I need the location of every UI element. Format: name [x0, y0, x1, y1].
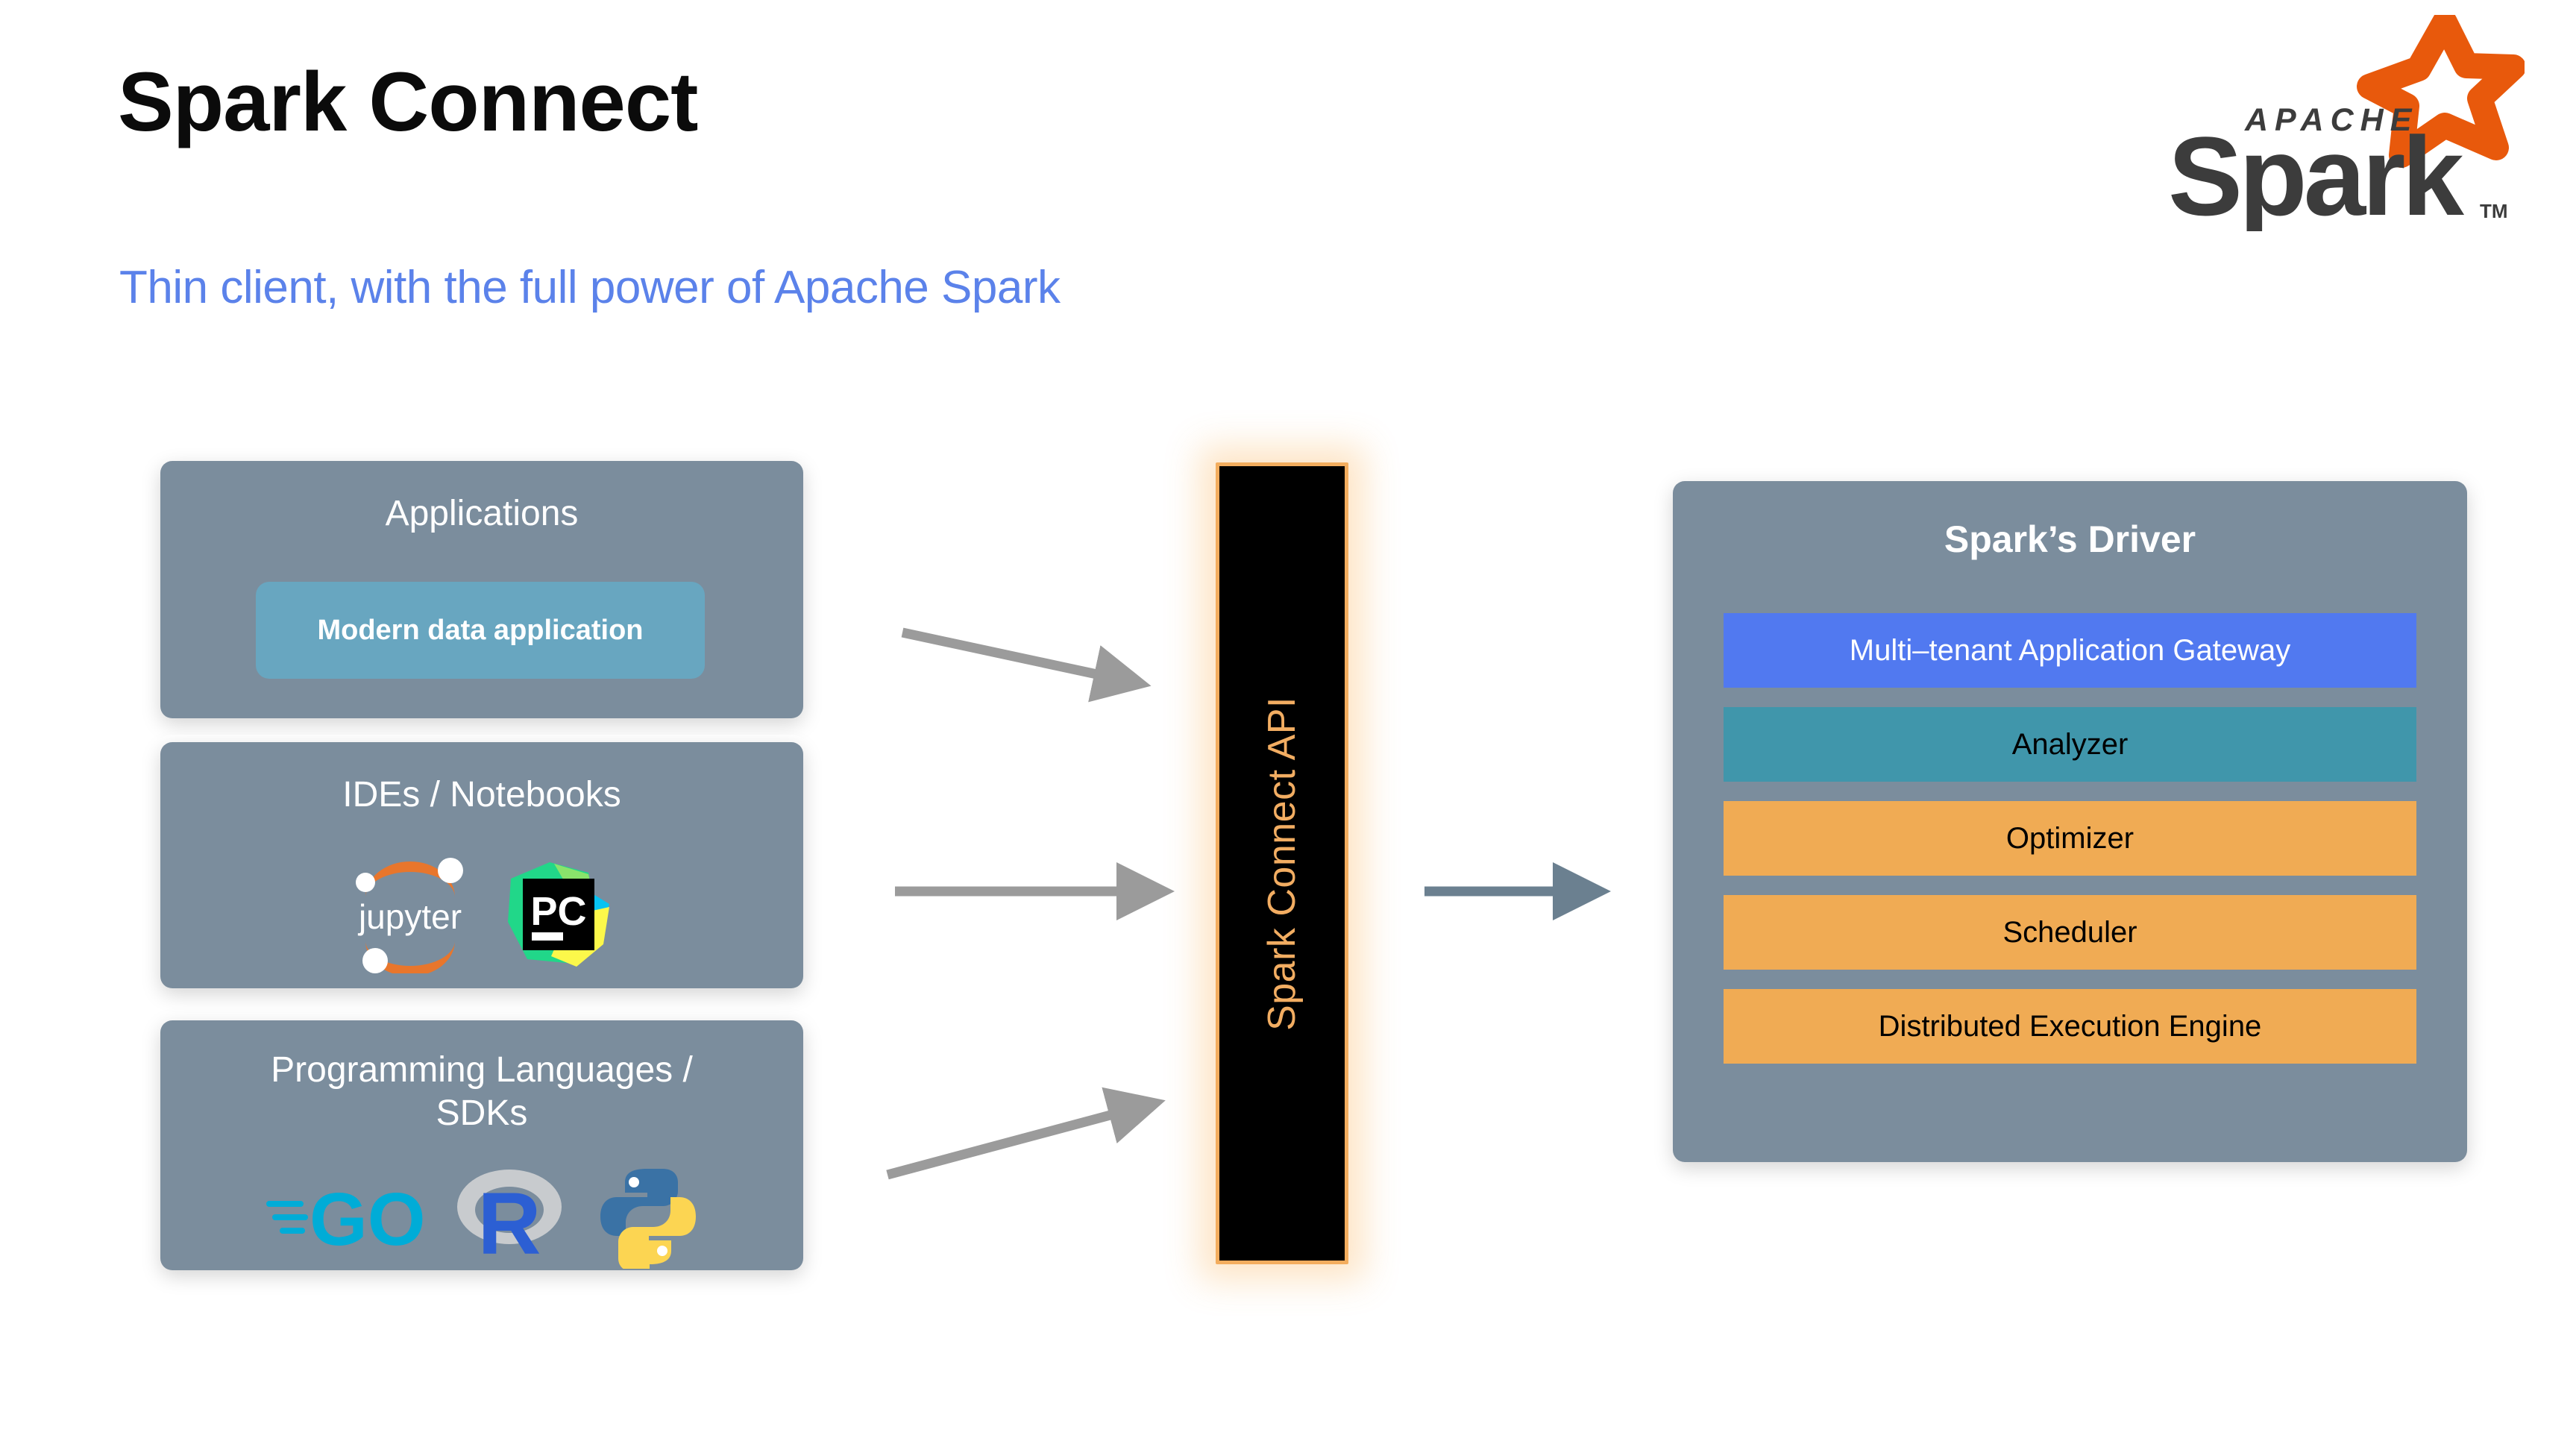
python-logo	[599, 1164, 697, 1269]
driver-row-list: Multi–tenant Application Gateway Analyze…	[1724, 613, 2416, 1064]
pycharm-logo: PC	[505, 858, 617, 970]
panel-languages-title-line1: Programming Languages /	[271, 1050, 693, 1090]
page-title: Spark Connect	[118, 58, 697, 146]
languages-icon-row: GO R	[160, 1161, 803, 1272]
panel-sparks-driver: Spark’s Driver Multi–tenant Application …	[1673, 481, 2467, 1162]
driver-row-gateway[interactable]: Multi–tenant Application Gateway	[1724, 613, 2416, 688]
driver-row-optimizer[interactable]: Optimizer	[1724, 801, 2416, 876]
panel-languages-title: Programming Languages / SDKs	[160, 1049, 803, 1134]
slide-canvas: Spark Connect Thin client, with the full…	[0, 0, 2576, 1447]
panel-ides-title: IDEs / Notebooks	[160, 773, 803, 817]
driver-row-scheduler[interactable]: Scheduler	[1724, 895, 2416, 970]
ides-icon-row: jupyter PC	[160, 854, 803, 973]
driver-row-execution-engine[interactable]: Distributed Execution Engine	[1724, 989, 2416, 1064]
go-logo: GO	[266, 1174, 423, 1260]
panel-driver-title: Spark’s Driver	[1673, 517, 2467, 562]
spark-connect-api-bar[interactable]: Spark Connect API	[1216, 462, 1348, 1264]
panel-applications-title: Applications	[160, 492, 803, 536]
pycharm-pc-text: PC	[530, 889, 586, 934]
panel-languages-title-line2: SDKs	[436, 1093, 528, 1133]
arrow-ides-to-api	[888, 858, 1208, 925]
r-logo: R	[451, 1161, 571, 1272]
arrow-apps-to-api	[888, 612, 1208, 731]
panel-applications: Applications Modern data application	[160, 461, 803, 718]
logo-tm-text: TM	[2480, 200, 2508, 222]
arrow-api-to-driver	[1417, 858, 1663, 925]
r-letter: R	[477, 1175, 541, 1272]
jupyter-logo: jupyter	[347, 854, 474, 973]
panel-ides-notebooks: IDEs / Notebooks jupyter	[160, 742, 803, 988]
arrow-langs-to-api	[873, 1052, 1208, 1193]
jupyter-wordmark: jupyter	[357, 897, 462, 936]
apache-spark-logo: APACHE Spark TM	[2129, 15, 2525, 231]
spark-connect-api-label: Spark Connect API	[1260, 697, 1304, 1031]
panel-programming-languages: Programming Languages / SDKs GO	[160, 1020, 803, 1270]
driver-row-analyzer[interactable]: Analyzer	[1724, 707, 2416, 782]
logo-spark-text: Spark	[2168, 113, 2464, 231]
modern-data-application-chip[interactable]: Modern data application	[256, 582, 705, 679]
page-subtitle: Thin client, with the full power of Apac…	[119, 263, 1060, 313]
go-wordmark: GO	[310, 1178, 423, 1260]
